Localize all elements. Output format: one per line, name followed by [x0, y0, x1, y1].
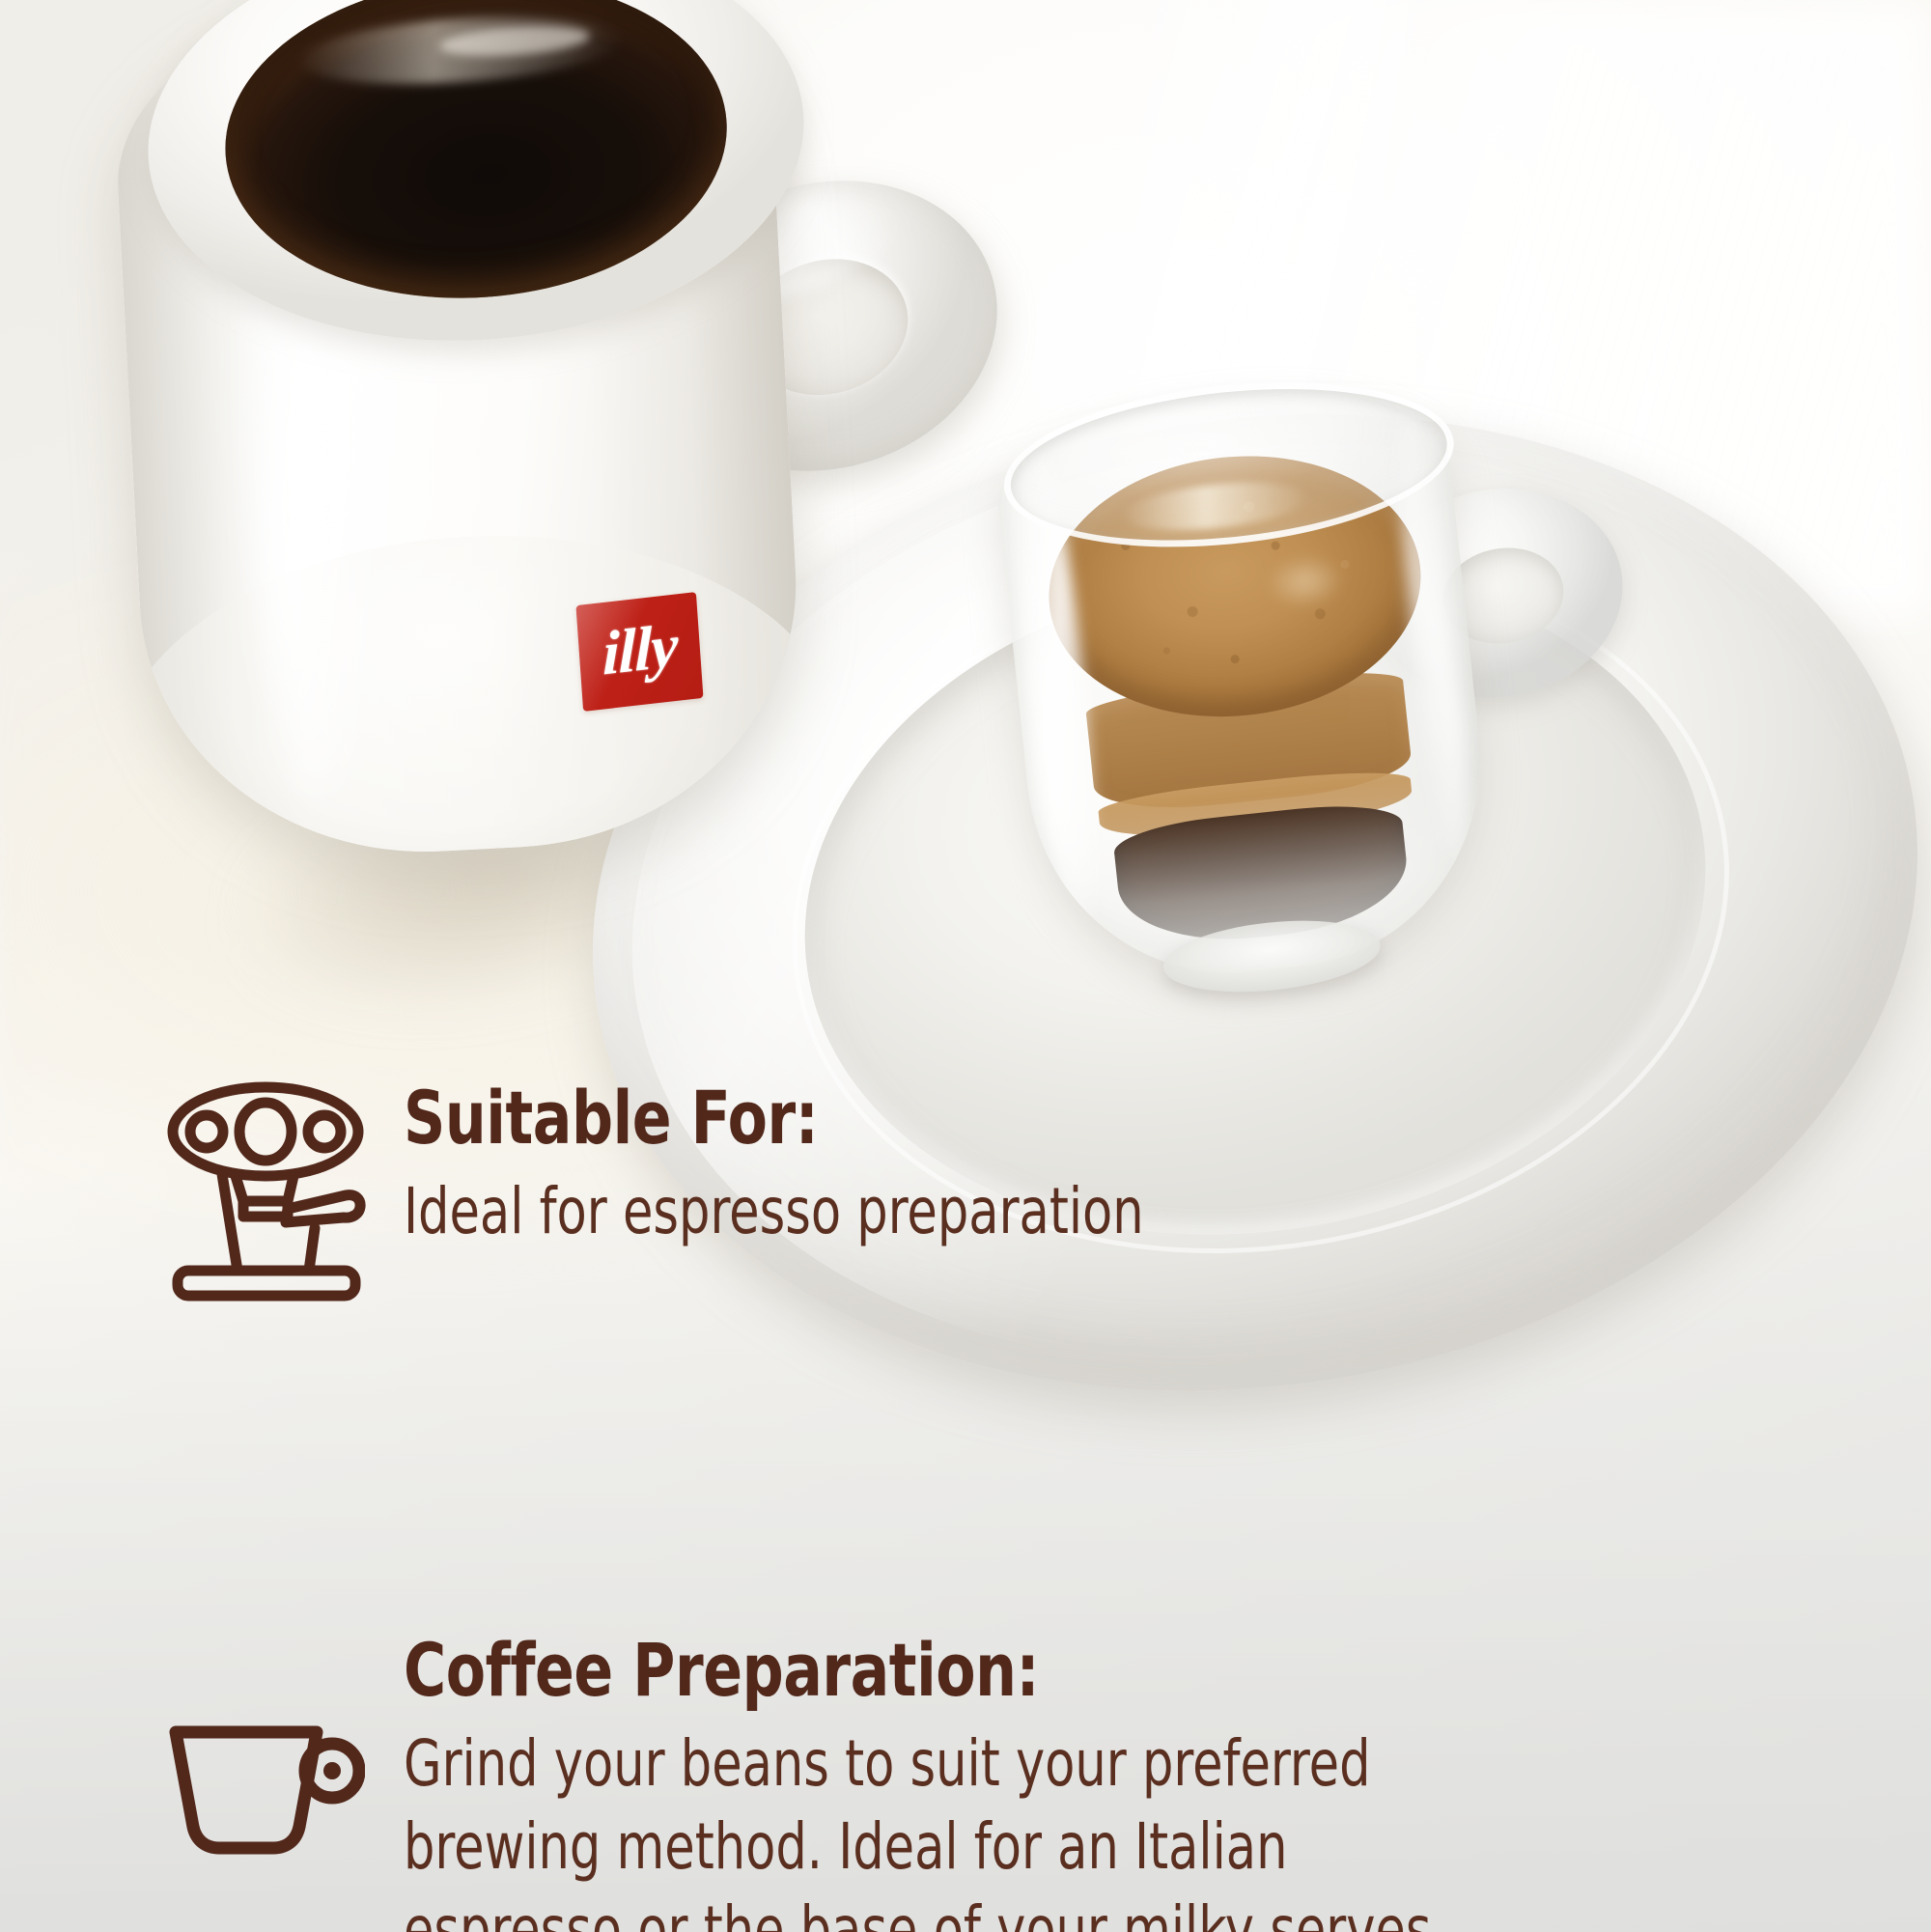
info-block-suitable-for: Suitable For: Ideal for espresso prepara…: [162, 1081, 1931, 1303]
suitable-for-line-1: Ideal for espresso preparation: [404, 1170, 1144, 1253]
info-block-coffee-preparation: Coffee Preparation: Grind your beans to …: [162, 1634, 1931, 1932]
coffee-preparation-title: Coffee Preparation:: [404, 1634, 1471, 1707]
illy-coffee-mug: illy: [92, 0, 893, 859]
suitable-for-text: Suitable For: Ideal for espresso prepara…: [394, 1081, 1264, 1253]
product-infographic: illy: [0, 0, 1931, 1932]
coffee-cup-icon-wrap: [162, 1634, 394, 1865]
espresso-machine-icon: [162, 1081, 370, 1303]
illy-logo: illy: [576, 592, 704, 712]
coffee-preparation-body: Grind your beans to suit your preferred …: [404, 1722, 1447, 1932]
suitable-for-body: Ideal for espresso preparation: [404, 1170, 1144, 1253]
espresso-machine-icon-wrap: [162, 1081, 394, 1303]
espresso-glass-cup: [989, 359, 1589, 1011]
coffee-preparation-line-1: Grind your beans to suit your preferred: [404, 1722, 1447, 1806]
black-coffee-surface: [214, 0, 738, 315]
coffee-preparation-line-2: brewing method. Ideal for an Italian: [404, 1806, 1447, 1889]
info-section: Suitable For: Ideal for espresso prepara…: [0, 1081, 1931, 1932]
coffee-preparation-line-3: espresso or the base of your milky serve…: [404, 1889, 1447, 1932]
coffee-cup-icon: [162, 1711, 365, 1865]
coffee-preparation-text: Coffee Preparation: Grind your beans to …: [394, 1634, 1617, 1932]
suitable-for-title: Suitable For:: [404, 1081, 1161, 1155]
illy-logo-glare: [576, 592, 704, 712]
